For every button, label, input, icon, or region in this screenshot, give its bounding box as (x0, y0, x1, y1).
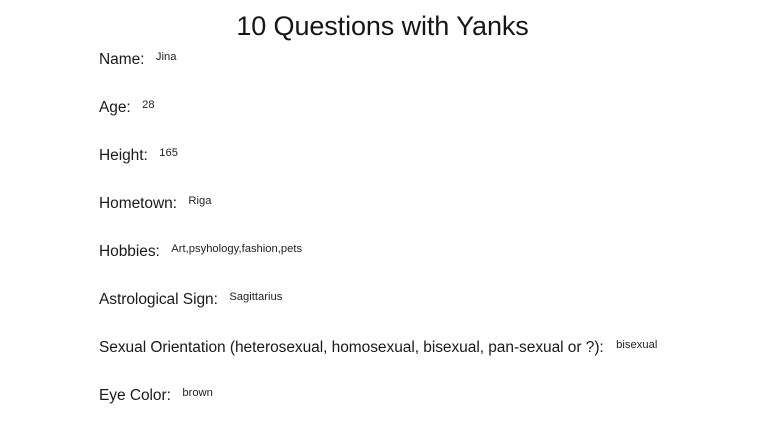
field-label-eye-color: Eye Color: (99, 387, 171, 405)
field-label-hometown: Hometown: (99, 195, 177, 213)
field-value-name: Jina (156, 51, 177, 63)
questionnaire-list: Name: Jina Age: 28 Height: 165 Hometown:… (99, 51, 765, 430)
field-row-hometown: Hometown: Riga (99, 195, 765, 243)
field-label-astrological-sign: Astrological Sign: (99, 291, 218, 309)
field-value-hobbies: Art,psyhology,fashion,pets (171, 243, 302, 255)
field-label-hobbies: Hobbies: (99, 243, 160, 261)
field-row-age: Age: 28 (99, 99, 765, 147)
field-value-eye-color: brown (182, 387, 213, 399)
field-row-height: Height: 165 (99, 147, 765, 195)
field-value-age: 28 (142, 99, 154, 111)
field-label-sexual-orientation: Sexual Orientation (heterosexual, homose… (99, 339, 604, 357)
field-value-height: 165 (159, 147, 178, 159)
field-row-name: Name: Jina (99, 51, 765, 99)
field-value-sexual-orientation: bisexual (616, 339, 657, 351)
field-value-astrological-sign: Sagittarius (229, 291, 282, 303)
field-row-astrological-sign: Astrological Sign: Sagittarius (99, 291, 765, 339)
field-value-hometown: Riga (188, 195, 211, 207)
presentation-slide: 10 Questions with Yanks Name: Jina Age: … (0, 0, 765, 430)
page-title: 10 Questions with Yanks (0, 11, 765, 42)
field-row-sexual-orientation: Sexual Orientation (heterosexual, homose… (99, 339, 765, 387)
field-label-age: Age: (99, 99, 131, 117)
field-row-hobbies: Hobbies: Art,psyhology,fashion,pets (99, 243, 765, 291)
field-label-height: Height: (99, 147, 148, 165)
field-label-name: Name: (99, 51, 144, 69)
field-row-eye-color: Eye Color: brown (99, 387, 765, 430)
